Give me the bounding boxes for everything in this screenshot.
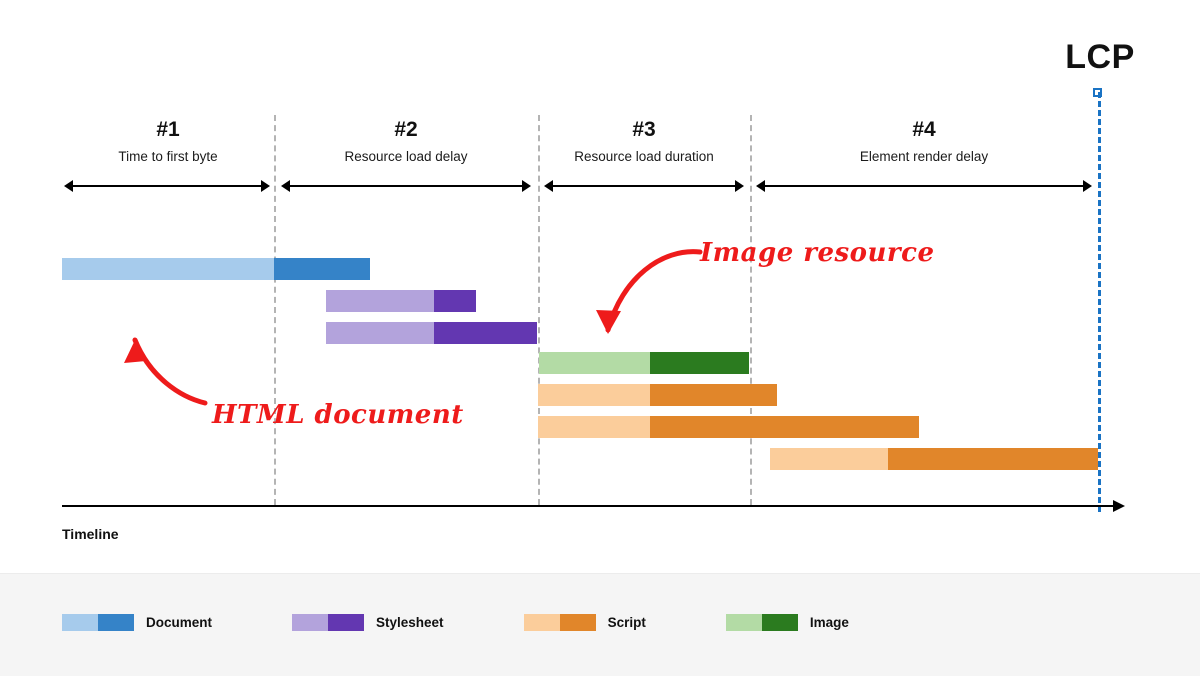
legend-swatch-light	[292, 614, 328, 631]
timeline-axis	[62, 505, 1115, 507]
phase-4-range-arrow	[756, 180, 1092, 192]
timeline-arrow-head-icon	[1113, 500, 1125, 512]
phase-2-range-arrow	[281, 180, 531, 192]
phase-divider-2	[538, 115, 540, 505]
legend-swatch-dark	[328, 614, 364, 631]
legend-label: Stylesheet	[376, 615, 444, 630]
phase-2-number: #2	[274, 118, 538, 142]
html-document-arrow-icon	[110, 285, 220, 415]
legend-item-document[interactable]: Document	[62, 614, 212, 631]
legend-label: Script	[608, 615, 646, 630]
phase-2: #2 Resource load delay	[274, 118, 538, 165]
legend-swatch-image	[726, 614, 798, 631]
phase-divider-3	[750, 115, 752, 505]
phase-4-number: #4	[750, 118, 1098, 142]
phase-3-number: #3	[538, 118, 750, 142]
legend-swatch-dark	[762, 614, 798, 631]
bar-segment-transfer	[434, 322, 537, 344]
arrow-head-right-icon	[261, 180, 270, 192]
legend-swatch-document	[62, 614, 134, 631]
waterfall-bar-script-5	[538, 384, 777, 406]
bar-segment-wait	[538, 384, 650, 406]
phase-3: #3 Resource load duration	[538, 118, 750, 165]
phase-4: #4 Element render delay	[750, 118, 1098, 165]
legend-swatch-stylesheet	[292, 614, 364, 631]
lcp-vertical-line	[1098, 92, 1101, 512]
phase-1-range-arrow	[64, 180, 270, 192]
legend-swatch-light	[62, 614, 98, 631]
bar-segment-wait	[326, 322, 434, 344]
waterfall-bar-script-7	[770, 448, 1098, 470]
bar-segment-transfer	[274, 258, 370, 280]
lcp-label: LCP	[1040, 40, 1160, 74]
timeline-label: Timeline	[62, 526, 119, 542]
bar-segment-transfer	[650, 352, 749, 374]
waterfall-bar-document-1	[62, 258, 370, 280]
phase-1-number: #1	[62, 118, 274, 142]
legend-swatch-dark	[98, 614, 134, 631]
waterfall-bar-stylesheet-2	[326, 290, 476, 312]
bar-segment-transfer	[888, 448, 1098, 470]
legend-item-image[interactable]: Image	[726, 614, 849, 631]
bar-segment-wait	[62, 258, 274, 280]
legend-swatch-script	[524, 614, 596, 631]
arrow-head-right-icon	[522, 180, 531, 192]
legend-label: Image	[810, 615, 849, 630]
legend-item-script[interactable]: Script	[524, 614, 646, 631]
bar-segment-wait	[770, 448, 888, 470]
legend-item-stylesheet[interactable]: Stylesheet	[292, 614, 444, 631]
legend-swatch-dark	[560, 614, 596, 631]
phase-1-name: Time to first byte	[62, 149, 274, 165]
legend-swatch-light	[726, 614, 762, 631]
legend: DocumentStylesheetScriptImage	[0, 573, 1200, 676]
arrow-head-right-icon	[1083, 180, 1092, 192]
phase-3-name: Resource load duration	[538, 149, 750, 165]
phase-divider-1	[274, 115, 276, 505]
arrow-head-right-icon	[735, 180, 744, 192]
image-resource-arrow-icon	[592, 238, 712, 358]
annotation-html-document: HTML document	[212, 400, 464, 430]
legend-label: Document	[146, 615, 212, 630]
bar-segment-wait	[539, 352, 650, 374]
waterfall-bar-script-6	[538, 416, 919, 438]
legend-items: DocumentStylesheetScriptImage	[62, 614, 929, 631]
phase-1: #1 Time to first byte	[62, 118, 274, 165]
arrow-shaft	[287, 185, 525, 187]
arrow-shaft	[762, 185, 1086, 187]
diagram-canvas: LCP #1 Time to first byte #2 Resource lo…	[0, 0, 1200, 675]
bar-segment-wait	[326, 290, 434, 312]
legend-swatch-light	[524, 614, 560, 631]
bar-segment-transfer	[434, 290, 476, 312]
waterfall-bar-stylesheet-3	[326, 322, 537, 344]
arrow-shaft	[70, 185, 264, 187]
waterfall-chart-area: LCP #1 Time to first byte #2 Resource lo…	[0, 0, 1200, 573]
bar-segment-wait	[538, 416, 650, 438]
bar-segment-transfer	[650, 416, 919, 438]
annotation-image-resource: Image resource	[700, 238, 935, 268]
phase-3-range-arrow	[544, 180, 744, 192]
phase-2-name: Resource load delay	[274, 149, 538, 165]
waterfall-bar-image-4	[539, 352, 749, 374]
arrow-shaft	[550, 185, 738, 187]
phase-4-name: Element render delay	[750, 149, 1098, 165]
bar-segment-transfer	[650, 384, 777, 406]
